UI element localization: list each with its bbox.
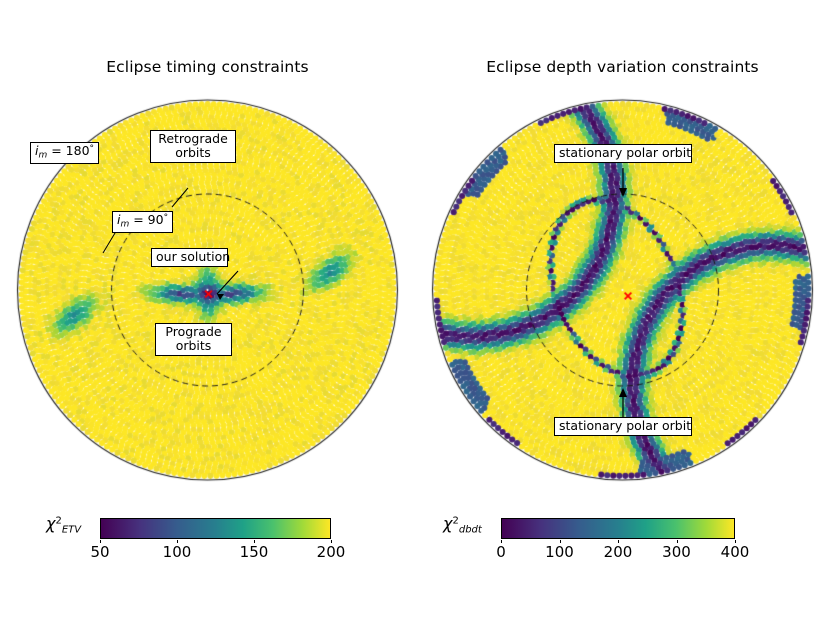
- figure-root: Eclipse timing constraints im = 180° im …: [0, 0, 830, 623]
- colorbar-tick-label: 300: [662, 543, 691, 561]
- colorbar-dbdt-ticks: 0100200300400: [501, 540, 735, 560]
- im-180-label: im = 180°: [30, 142, 99, 164]
- our-solution-label: our solution: [151, 248, 228, 267]
- colorbar-tick-label: 200: [317, 543, 346, 561]
- im-90-label: im = 90°: [112, 211, 173, 233]
- panel-left-title: Eclipse timing constraints: [0, 58, 415, 76]
- stationary-polar-orbit-bottom-label: stationary polar orbit: [554, 417, 692, 436]
- colorbar-tick-label: 200: [604, 543, 633, 561]
- colorbar-dbdt-label: χ2dbdt: [443, 514, 482, 536]
- colorbar-tick-label: 50: [90, 543, 109, 561]
- colorbar-dbdt-gradient: [501, 518, 735, 539]
- colorbar-etv-label: χ2ETV: [46, 514, 81, 536]
- colorbar-tick-label: 400: [721, 543, 750, 561]
- colorbar-etv-gradient: [100, 518, 331, 539]
- colorbar-tick-label: 150: [240, 543, 269, 561]
- stationary-polar-orbit-top-label: stationary polar orbit: [554, 144, 692, 163]
- retrograde-orbits-label: Retrogradeorbits: [150, 130, 236, 163]
- colorbar-tick-label: 100: [163, 543, 192, 561]
- colorbar-tick-label: 100: [545, 543, 574, 561]
- panel-right-title: Eclipse depth variation constraints: [415, 58, 830, 76]
- colorbar-etv-ticks: 50100150200: [100, 540, 331, 560]
- colorbar-tick-label: 0: [496, 543, 506, 561]
- prograde-orbits-label: Progradeorbits: [155, 323, 232, 356]
